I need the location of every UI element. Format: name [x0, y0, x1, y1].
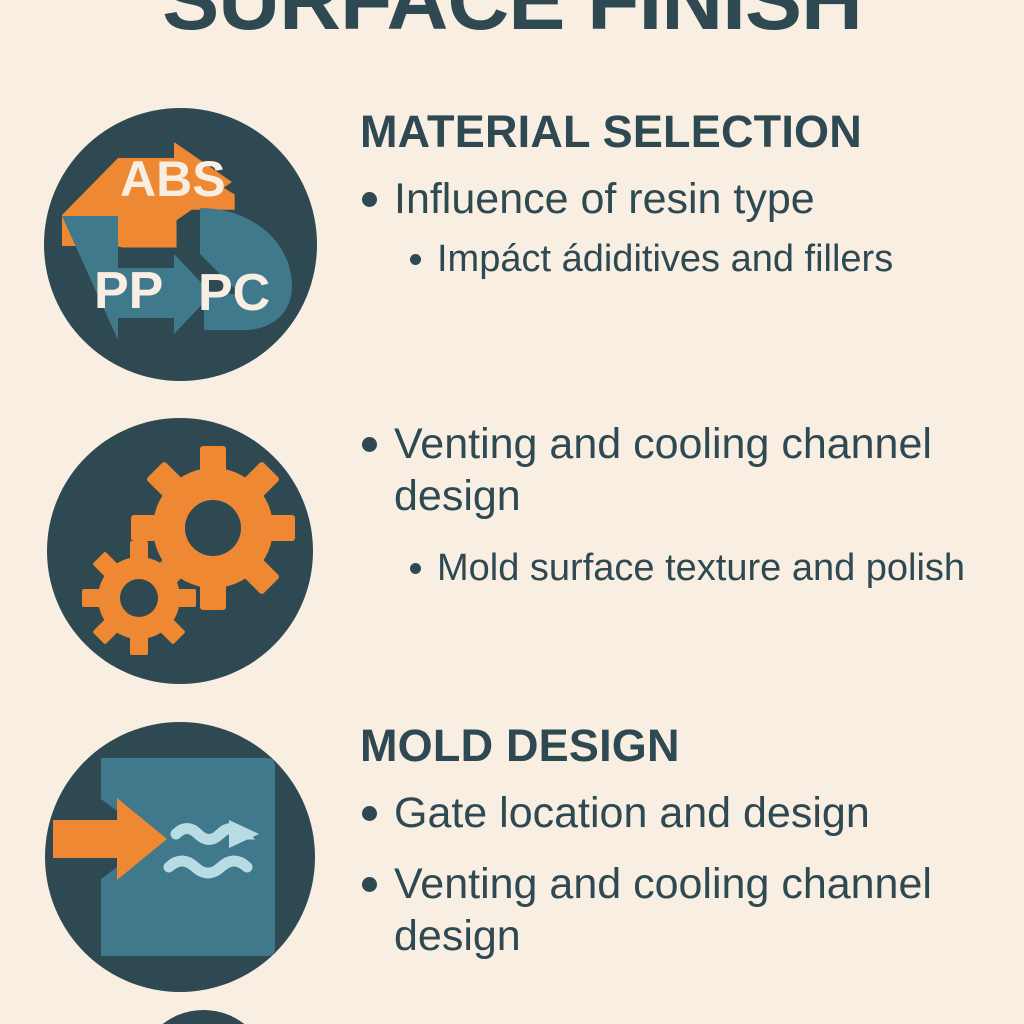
- bullet-dot-icon: [362, 192, 377, 207]
- bullet-dot-icon: [410, 254, 421, 265]
- bullet-text: Venting and cooling channel design: [394, 858, 1006, 963]
- icon-column: [0, 418, 360, 684]
- list-item: Venting and cooling channel design: [360, 858, 1006, 963]
- resin-recycle-arrows-icon: ABS PP PC: [44, 108, 317, 381]
- icon-label-pc: PC: [198, 264, 270, 322]
- section-heading-mold-design: MOLD DESIGN: [360, 722, 1006, 769]
- text-column: MATERIAL SELECTION Influence of resin ty…: [360, 108, 1024, 292]
- bullet-text: Impáct ádiditives and fillers: [437, 236, 1006, 282]
- bullet-dot-icon: [410, 563, 421, 574]
- icon-label-abs: ABS: [120, 151, 226, 207]
- icon-label-pp: PP: [94, 262, 163, 320]
- infographic-poster: SURFACE FINISH ABS PP PC: [0, 0, 1024, 1024]
- small-gear-icon: [82, 541, 196, 655]
- bullet-dot-icon: [362, 437, 377, 452]
- bullet-dot-icon: [362, 806, 377, 821]
- text-column: MOLD DESIGN Gate location and design Ven…: [360, 722, 1024, 973]
- bullet-text: Venting and cooling channel design: [394, 418, 1006, 523]
- list-item: Influence of resin type: [360, 173, 1006, 225]
- section-processing-parameters: Venting and cooling channel design Mold …: [0, 418, 1024, 684]
- mold-cavity-svg: [45, 722, 315, 992]
- text-column: Venting and cooling channel design Mold …: [360, 418, 1024, 601]
- list-item: Venting and cooling channel design: [360, 418, 1006, 523]
- icon-column: ABS PP PC: [0, 108, 360, 381]
- list-item: Impáct ádiditives and fillers: [360, 236, 1006, 282]
- bullet-text: Influence of resin type: [394, 173, 1006, 225]
- next-section-icon-partial: [137, 1010, 270, 1024]
- bullet-text: Mold surface texture and polish: [437, 545, 1006, 591]
- list-item: Mold surface texture and polish: [360, 545, 1006, 591]
- resin-arrows-svg: ABS PP PC: [44, 108, 317, 381]
- gears-svg: [47, 418, 313, 684]
- bullet-dot-icon: [362, 877, 377, 892]
- page-title: SURFACE FINISH: [0, 0, 1024, 42]
- list-item: Gate location and design: [360, 787, 1006, 839]
- section-mold-design: MOLD DESIGN Gate location and design Ven…: [0, 722, 1024, 992]
- gears-icon: [47, 418, 313, 684]
- icon-column: [0, 722, 360, 992]
- section-material-selection: ABS PP PC MATERIAL SELECTION Influence o…: [0, 108, 1024, 381]
- mold-cavity-injection-icon: [45, 722, 315, 992]
- bullet-text: Gate location and design: [394, 787, 1006, 839]
- section-heading-material-selection: MATERIAL SELECTION: [360, 108, 1006, 155]
